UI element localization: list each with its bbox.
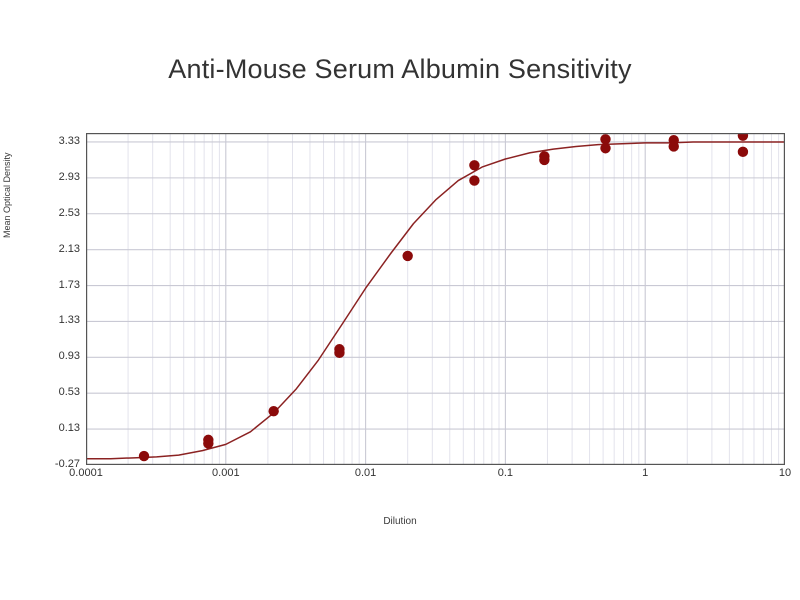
y-tick-label: 2.13 xyxy=(36,244,80,255)
plot-border xyxy=(87,134,785,465)
x-axis-title: Dilution xyxy=(0,516,800,527)
y-tick-label: 2.93 xyxy=(36,172,80,183)
y-tick-label: 1.33 xyxy=(36,315,80,326)
y-axis-tick-labels: 3.332.932.532.131.731.330.930.530.13-0.2… xyxy=(32,0,80,600)
data-points xyxy=(139,133,748,461)
x-tick-label: 1 xyxy=(605,468,685,479)
plot-canvas xyxy=(86,133,785,465)
y-tick-label: 0.53 xyxy=(36,387,80,398)
y-tick-label: 0.13 xyxy=(36,423,80,434)
chart-figure: Anti-Mouse Serum Albumin Sensitivity Mea… xyxy=(0,0,800,600)
plot-area xyxy=(86,133,785,465)
x-tick-label: 10 xyxy=(745,468,800,479)
fitted-curve xyxy=(86,142,785,459)
y-axis-title: Mean Optical Density xyxy=(2,38,12,238)
x-tick-label: 0.01 xyxy=(326,468,406,479)
y-tick-label: 0.93 xyxy=(36,351,80,362)
y-tick-label: 1.73 xyxy=(36,280,80,291)
y-tick-label: 3.33 xyxy=(36,136,80,147)
x-tick-label: 0.0001 xyxy=(46,468,126,479)
x-tick-label: 0.001 xyxy=(186,468,266,479)
y-tick-label: 2.53 xyxy=(36,208,80,219)
major-gridlines xyxy=(86,133,785,465)
x-tick-label: 0.1 xyxy=(465,468,545,479)
page-title: Anti-Mouse Serum Albumin Sensitivity xyxy=(0,54,800,85)
